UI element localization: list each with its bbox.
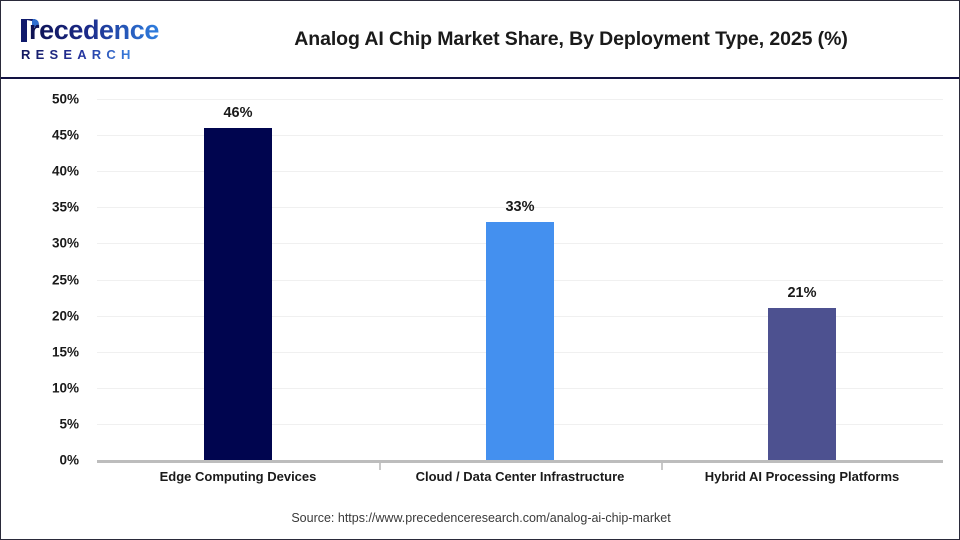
y-axis-tick-label: 45% — [25, 128, 87, 143]
y-axis-tick-label: 40% — [25, 164, 87, 179]
x-axis-category-label: Edge Computing Devices — [160, 469, 317, 484]
logo-wordmark: recedence — [29, 15, 159, 45]
bar-value-label: 33% — [505, 199, 534, 215]
bar-series: 46%Edge Computing Devices33%Cloud / Data… — [97, 80, 943, 540]
y-axis-tick-label: 15% — [25, 344, 87, 359]
source-caption: Source: https://www.precedenceresearch.c… — [1, 511, 960, 525]
plot-area: 50%45%40%35%30%25%20%15%10%5%0% 46%Edge … — [1, 80, 960, 540]
bar-value-label: 21% — [787, 285, 816, 301]
bar-group: 21%Hybrid AI Processing Platforms — [661, 80, 943, 540]
chart-header: recedence RESEARCH Analog AI Chip Market… — [1, 1, 959, 79]
precedence-research-logo: recedence RESEARCH — [15, 15, 187, 65]
x-axis-category-tick — [661, 463, 663, 470]
x-axis-category-label: Cloud / Data Center Infrastructure — [416, 469, 625, 484]
page-title: Analog AI Chip Market Share, By Deployme… — [197, 1, 945, 77]
y-axis-tick-label: 0% — [25, 453, 87, 468]
y-axis-tick-label: 25% — [25, 272, 87, 287]
bar-value-label: 46% — [223, 105, 252, 121]
chart-canvas: recedence RESEARCH Analog AI Chip Market… — [0, 0, 960, 540]
y-axis-tick-label: 50% — [25, 92, 87, 107]
bar-group: 46%Edge Computing Devices — [97, 80, 379, 540]
bar[interactable] — [204, 128, 272, 460]
bar[interactable] — [768, 308, 836, 460]
x-axis-category-tick — [379, 463, 381, 470]
bar-group: 33%Cloud / Data Center Infrastructure — [379, 80, 661, 540]
logo-subtext: RESEARCH — [21, 47, 136, 62]
x-axis-category-label: Hybrid AI Processing Platforms — [705, 469, 900, 484]
y-axis-tick-label: 10% — [25, 380, 87, 395]
y-axis-tick-label: 35% — [25, 200, 87, 215]
y-axis-tick-label: 20% — [25, 308, 87, 323]
y-axis-tick-label: 30% — [25, 236, 87, 251]
bar[interactable] — [486, 222, 554, 460]
y-axis-ticks: 50%45%40%35%30%25%20%15%10%5%0% — [25, 80, 87, 540]
y-axis-tick-label: 5% — [25, 416, 87, 431]
